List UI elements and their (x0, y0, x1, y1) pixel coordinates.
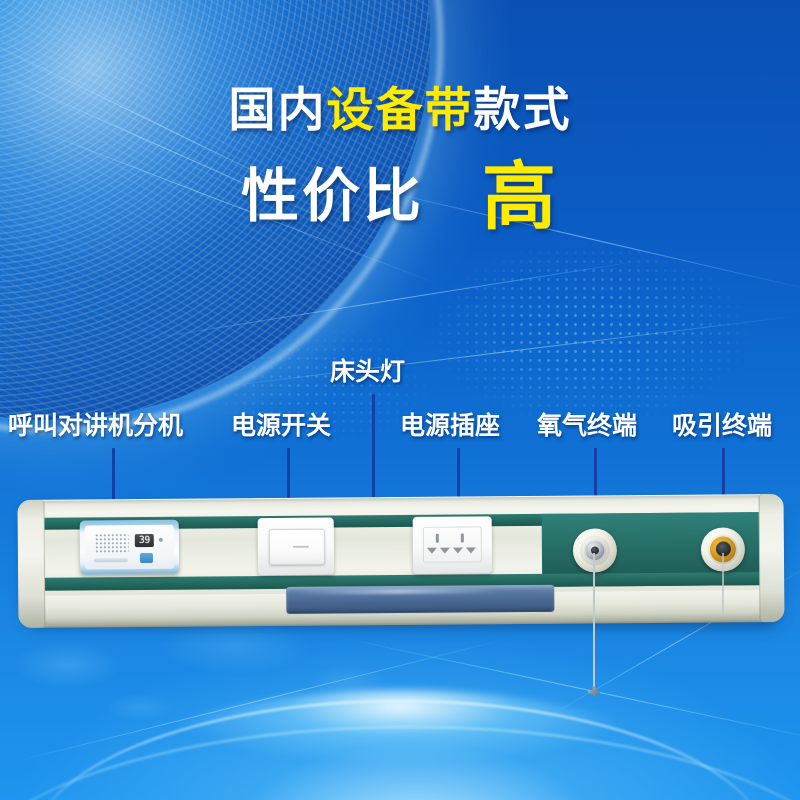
callout-label-power-switch: 电源开关 (231, 414, 331, 439)
power-socket-face (423, 526, 482, 562)
bed-head-unit-panel: 39 (18, 497, 784, 632)
headline-line1-highlight: 设备带 (327, 83, 474, 136)
socket-pin-right-b (453, 548, 463, 554)
socket-pin-right-a (461, 534, 464, 543)
power-switch-rocker[interactable] (269, 529, 325, 565)
status-led-icon (159, 538, 163, 542)
panel-end-cap-left (18, 500, 46, 628)
headline-line1-part3: 款式 (474, 83, 572, 136)
speaker-grille-icon (95, 533, 129, 553)
panel-end-cap-right (758, 494, 784, 622)
socket-pin-left-c (440, 548, 450, 554)
power-switch[interactable] (258, 518, 334, 576)
pull-cord[interactable] (593, 553, 595, 693)
intercom-handset[interactable]: 39 (80, 520, 179, 575)
intercom-call-button[interactable] (140, 553, 153, 563)
socket-pin-right-c (466, 547, 476, 553)
power-socket[interactable] (413, 516, 492, 574)
callout-label-intercom: 呼叫对讲机分机 (8, 414, 183, 439)
suction-drain-tube (722, 553, 724, 615)
callout-label-oxygen: 氧气终端 (537, 414, 637, 439)
callout-label-bed-lamp: 床头灯 (330, 360, 405, 385)
intercom-mic-slot (94, 558, 128, 562)
headline-line2-part1: 性价比 (241, 164, 424, 229)
callout-label-socket: 电源插座 (400, 414, 500, 439)
headline-line2-highlight: 高 (482, 155, 559, 238)
headline-line1-part1: 国内 (229, 83, 327, 136)
socket-pin-left-b (427, 548, 437, 554)
socket-pin-left-a (436, 534, 439, 543)
panel-rail-body: 39 (18, 494, 785, 628)
switch-mark-line (293, 546, 309, 548)
poster-canvas: 国内设备带款式 性价比高 呼叫对讲机分机 电源开关 床头灯 电源插座 氧气终端 … (0, 0, 800, 800)
intercom-display: 39 (135, 534, 154, 547)
headline-line-2: 性价比高 (0, 160, 800, 234)
callout-label-suction: 吸引终端 (672, 414, 772, 439)
intercom-faceplate: 39 (85, 525, 174, 570)
headline-line-1: 国内设备带款式 (0, 86, 800, 133)
